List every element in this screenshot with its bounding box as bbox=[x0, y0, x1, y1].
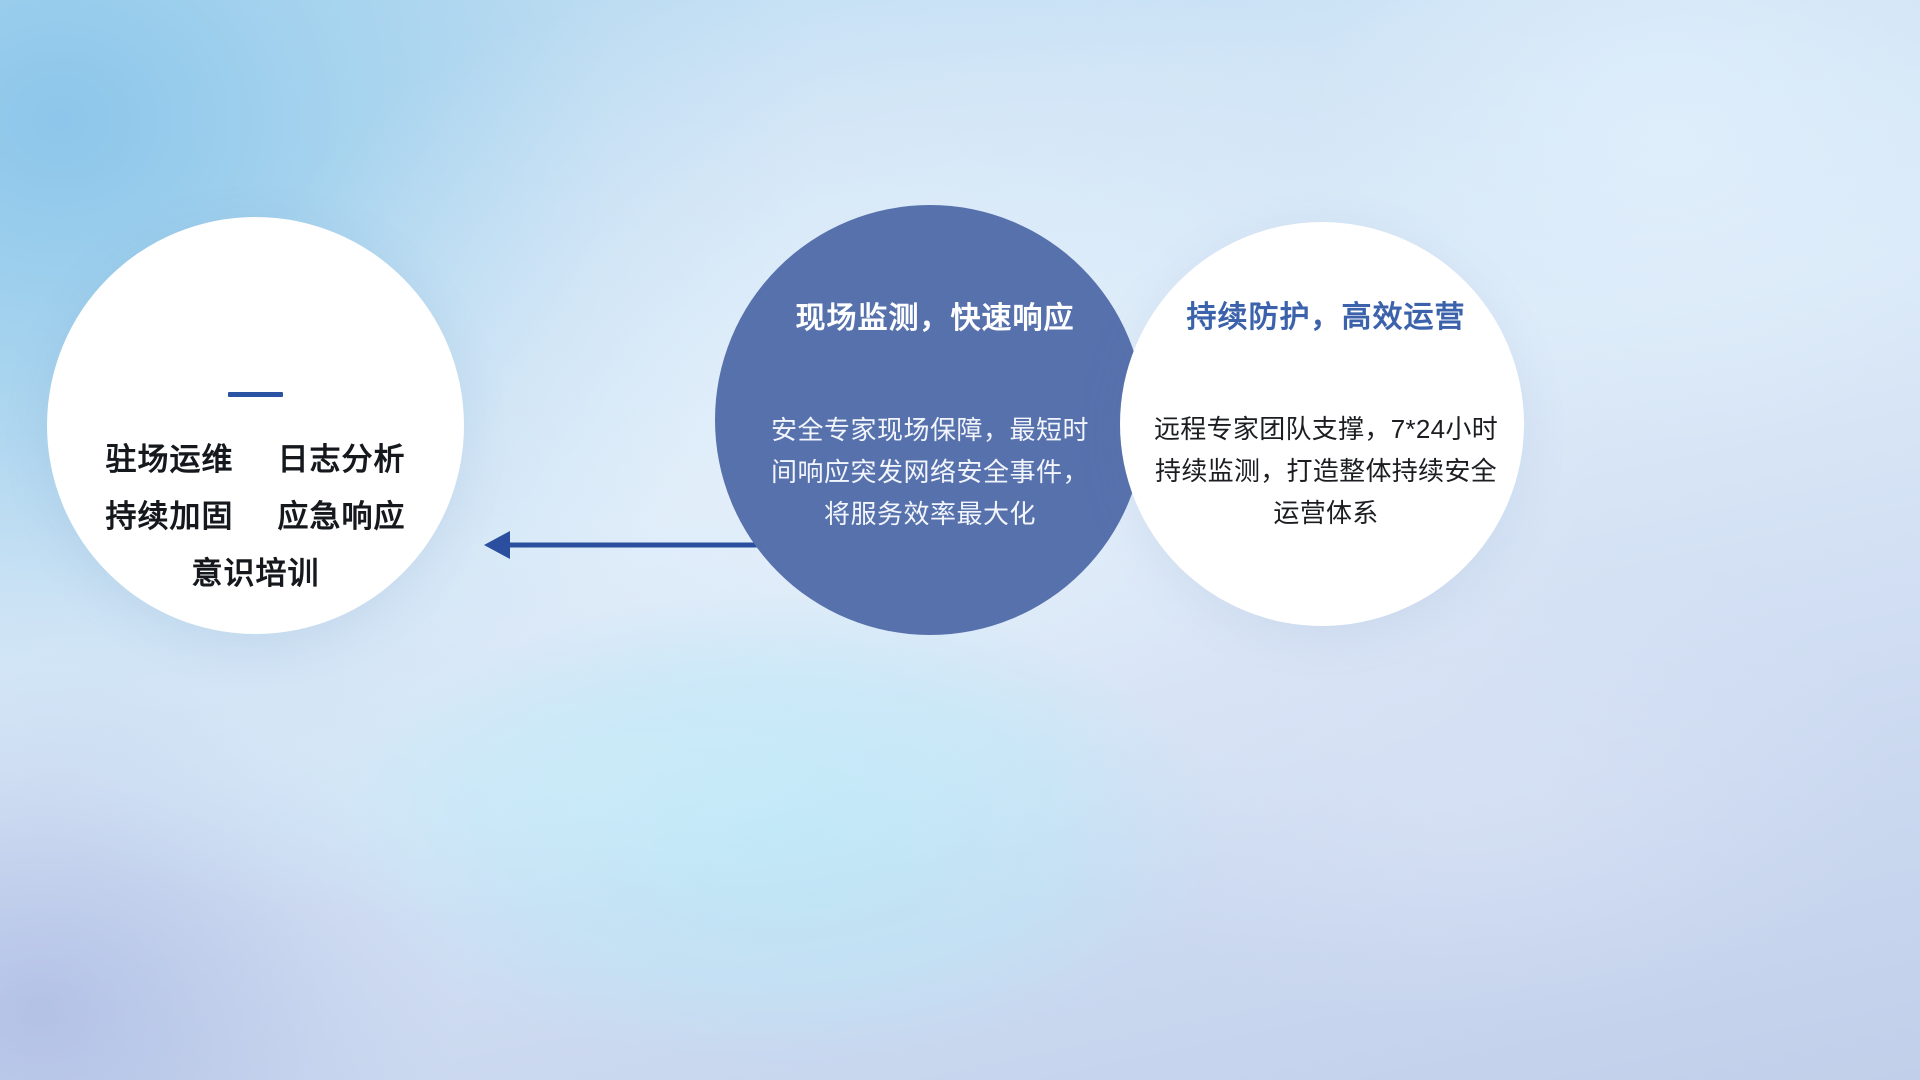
capability-tag: 驻场运维 bbox=[106, 443, 234, 477]
service-card-onsite-content: 现场监测，快速响应 安全专家现场保障，最短时间响应突发网络安全事件，将服务效率最… bbox=[757, 293, 1103, 535]
background-sheen-band bbox=[0, 562, 1338, 997]
capability-row: 持续加固 应急响应 bbox=[47, 500, 464, 534]
service-card-remote-body: 远程专家团队支撑，7*24小时持续监测，打造整体持续安全运营体系 bbox=[1148, 408, 1504, 534]
service-card-onsite: 现场监测，快速响应 安全专家现场保障，最短时间响应突发网络安全事件，将服务效率最… bbox=[715, 205, 1145, 635]
service-card-remote-content: 持续防护，高效运营 远程专家团队支撑，7*24小时持续监测，打造整体持续安全运营… bbox=[1148, 292, 1504, 534]
capability-tag: 应急响应 bbox=[278, 500, 406, 534]
service-card-remote-title: 持续防护，高效运营 bbox=[1148, 292, 1504, 336]
capability-row: 驻场运维 日志分析 bbox=[47, 443, 464, 477]
service-card-onsite-body: 安全专家现场保障，最短时间响应突发网络安全事件，将服务效率最大化 bbox=[757, 409, 1103, 535]
capability-list: 驻场运维 日志分析 持续加固 应急响应 意识培训 bbox=[47, 392, 464, 591]
capability-card-left: 驻场运维 日志分析 持续加固 应急响应 意识培训 bbox=[47, 217, 464, 634]
capability-tag: 日志分析 bbox=[278, 443, 406, 477]
capability-tag: 意识培训 bbox=[47, 557, 464, 591]
accent-dash-icon bbox=[228, 392, 283, 397]
background-sheen-right bbox=[980, 520, 1920, 1040]
slide-canvas: 驻场运维 日志分析 持续加固 应急响应 意识培训 现场监测，快速响应 安全专家现… bbox=[0, 0, 1920, 1080]
capability-tag: 持续加固 bbox=[106, 500, 234, 534]
service-card-onsite-title: 现场监测，快速响应 bbox=[767, 293, 1103, 337]
service-card-remote: 持续防护，高效运营 远程专家团队支撑，7*24小时持续监测，打造整体持续安全运营… bbox=[1120, 222, 1524, 626]
